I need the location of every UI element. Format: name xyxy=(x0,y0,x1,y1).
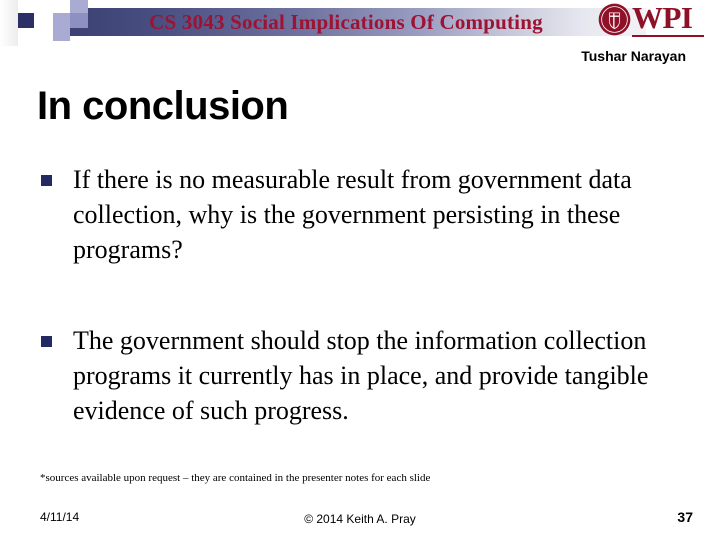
presentation-slide: CS 3043 Social Implications Of Computing… xyxy=(0,0,720,540)
slide-body: If there is no measurable result from go… xyxy=(37,162,685,428)
wpi-underline xyxy=(632,35,704,37)
square-bullet-icon xyxy=(41,336,52,347)
decorative-square-white-bottom xyxy=(36,28,53,40)
wpi-seal-icon xyxy=(598,3,631,36)
wpi-wordmark: WPI xyxy=(632,0,693,36)
slide-header: CS 3043 Social Implications Of Computing… xyxy=(0,0,720,46)
square-bullet-icon xyxy=(41,175,52,186)
decorative-square-navy xyxy=(18,13,34,28)
decorative-square-white-top xyxy=(36,0,53,12)
footer-page-number: 37 xyxy=(677,509,693,525)
bullet-text: If there is no measurable result from go… xyxy=(73,165,632,264)
bullet-text: The government should stop the informati… xyxy=(73,326,648,425)
page-title: In conclusion xyxy=(37,83,288,129)
footer-copyright: © 2014 Keith A. Pray xyxy=(0,512,720,526)
presenter-name: Tushar Narayan xyxy=(581,48,686,64)
bullet-item: The government should stop the informati… xyxy=(37,323,685,428)
sources-footnote: *sources available upon request – they a… xyxy=(40,472,430,484)
course-title: CS 3043 Social Implications Of Computing xyxy=(56,7,636,37)
header-left-fade xyxy=(0,0,18,46)
wpi-logo: WPI xyxy=(598,2,704,38)
bullet-item: If there is no measurable result from go… xyxy=(37,162,685,267)
